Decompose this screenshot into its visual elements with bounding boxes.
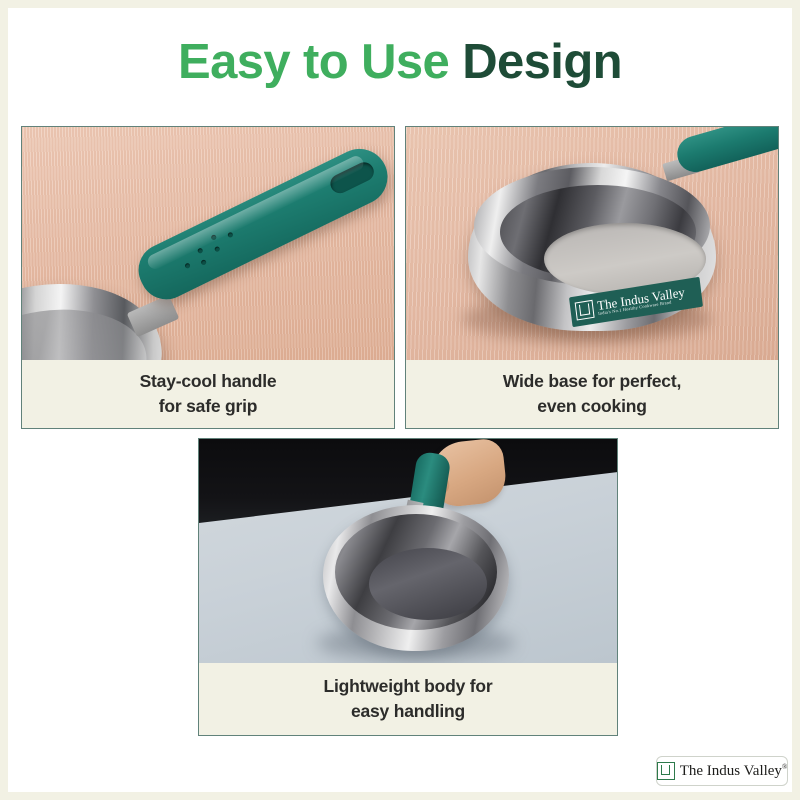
infographic-page: Easy to Use Design Stay-cool handle for … — [8, 8, 792, 792]
registered-mark: ® — [782, 763, 787, 771]
brand-emblem-icon — [575, 300, 595, 321]
feature-photo-lightweight-body — [199, 439, 617, 663]
caption-line-1: Wide base for perfect, — [503, 369, 681, 394]
pan-body — [323, 505, 509, 651]
caption-line-1: Stay-cool handle — [140, 369, 277, 394]
pan-interior — [500, 185, 696, 279]
feature-card-wide-base: The Indus Valley India's No.1 Healthy Co… — [405, 126, 779, 429]
hanging-slot — [327, 159, 377, 196]
pan-interior — [335, 514, 497, 630]
feature-caption-lightweight-body: Lightweight body for easy handling — [199, 663, 617, 735]
brand-name: The Indus Valley® — [680, 764, 788, 779]
caption-line-2: even cooking — [537, 394, 646, 419]
brand-emblem-icon — [657, 762, 675, 780]
feature-photo-wide-base: The Indus Valley India's No.1 Healthy Co… — [406, 127, 778, 360]
feature-photo-stay-cool-handle — [22, 127, 394, 360]
feature-caption-stay-cool-handle: Stay-cool handle for safe grip — [22, 360, 394, 428]
pan-base — [369, 548, 487, 620]
feature-caption-wide-base: Wide base for perfect, even cooking — [406, 360, 778, 428]
feature-card-stay-cool-handle: Stay-cool handle for safe grip — [21, 126, 395, 429]
title-accent: Design — [462, 35, 622, 89]
title-highlight: Easy to Use — [178, 35, 449, 89]
page-title: Easy to Use Design — [8, 38, 792, 87]
brand-badge: The Indus Valley® — [656, 756, 788, 786]
caption-line-1: Lightweight body for — [323, 674, 492, 699]
feature-card-lightweight-body: Lightweight body for easy handling — [198, 438, 618, 736]
pan-rim — [474, 167, 710, 285]
caption-line-2: easy handling — [351, 699, 465, 724]
caption-line-2: for safe grip — [159, 394, 258, 419]
